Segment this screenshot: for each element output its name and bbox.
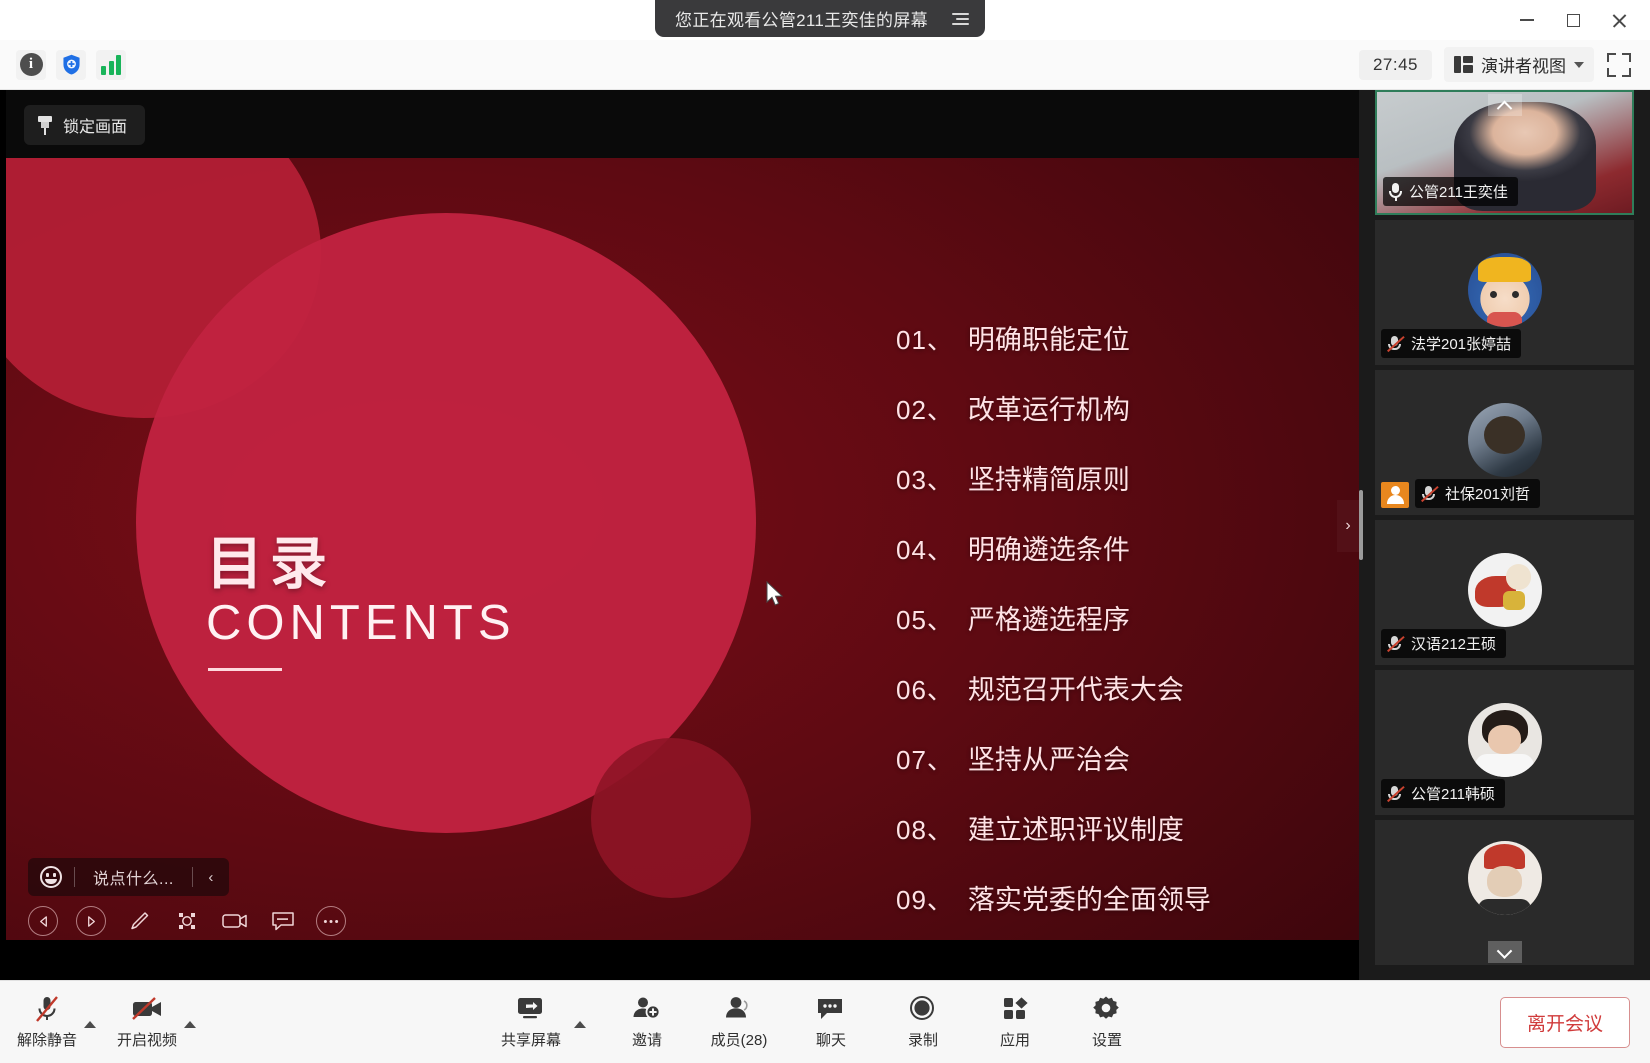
apps-grid-icon [998,995,1032,1025]
chat-placeholder[interactable]: 说点什么... [75,865,192,889]
unmute-button[interactable]: 解除静音 [16,995,78,1050]
close-icon[interactable] [1596,0,1642,40]
record-circle-icon [906,995,940,1025]
shield-icon[interactable] [56,50,86,80]
item-text: 改革运行机构 [968,388,1130,427]
decor-circle-3 [591,738,751,898]
participant-name-bar: 社保201刘哲 [1415,479,1540,508]
pin-icon [38,116,52,135]
record-label: 录制 [908,1029,938,1050]
spotlight-button[interactable] [172,906,202,936]
settings-button[interactable]: 设置 [1076,995,1138,1050]
mic-muted-icon [1421,485,1438,503]
slide-title: 目录 [206,518,334,600]
start-video-label: 开启视频 [117,1029,177,1050]
annotate-pen-button[interactable] [124,906,154,936]
speaker-view-icon [1454,56,1473,73]
avatar [1468,553,1542,627]
item-number: 08、 [896,810,954,847]
item-text: 规范召开代表大会 [968,668,1184,707]
status-bar-left: i [0,50,126,80]
chat-label: 聊天 [816,1029,846,1050]
item-number: 05、 [896,600,954,637]
chat-bubble-icon [814,995,848,1025]
unmute-label: 解除静音 [17,1029,77,1050]
avatar [1468,703,1542,777]
view-mode-selector[interactable]: 演讲者视图 [1444,47,1594,82]
participant-name: 法学201张婷喆 [1411,333,1511,354]
record-button[interactable]: 录制 [892,995,954,1050]
share-screen-label: 共享屏幕 [501,1029,561,1050]
participant-name: 汉语212王硕 [1411,633,1496,654]
people-icon [722,995,756,1025]
share-options-chevron-up-icon[interactable] [574,1021,586,1028]
participant-name: 社保201刘哲 [1445,483,1530,504]
avatar [1468,403,1542,477]
start-video-button[interactable]: 开启视频 [116,995,178,1050]
mic-off-icon [30,995,64,1025]
participant-name-bar: 公管211王奕佳 [1383,177,1518,206]
mic-options-chevron-up-icon[interactable] [84,1021,96,1028]
meeting-toolbar: 解除静音 开启视频 [0,980,1650,1063]
settings-label: 设置 [1092,1029,1122,1050]
item-text: 建立述职评议制度 [968,808,1184,847]
emoji-icon[interactable] [28,866,74,888]
filmstrip-expand-handle[interactable]: › [1337,500,1359,552]
slide-contents-list: 01、 明确职能定位 02、 改革运行机构 03、 坚持精简原则 04、 明确遴… [896,318,1326,940]
prev-slide-button[interactable] [28,906,58,936]
item-number: 01、 [896,320,954,357]
share-screen-button[interactable]: 共享屏幕 [500,995,562,1050]
participant-name-bar: 公管211韩硕 [1381,779,1505,808]
chevron-right-icon: › [1345,517,1350,535]
item-number: 03、 [896,460,954,497]
chevron-down-icon [1574,62,1584,68]
list-item: 04、 明确遴选条件 [896,528,1326,567]
participant-tile[interactable]: 公管211王奕佳 [1375,90,1634,215]
list-item: 05、 严格遴选程序 [896,598,1326,637]
participant-name-bar: 法学201张婷喆 [1381,329,1521,358]
participant-name-bar: 汉语212王硕 [1381,629,1506,658]
toolbar-left-group: 解除静音 开启视频 [0,995,196,1050]
toolbar-center-group: 共享屏幕 邀请 [500,995,1138,1050]
person-add-icon [630,995,664,1025]
invite-button[interactable]: 邀请 [616,995,678,1050]
lock-screen-label: 锁定画面 [63,113,127,137]
members-button[interactable]: 成员(28) [708,995,770,1050]
item-text: 严格遴选程序 [968,598,1130,637]
quick-chat-input[interactable]: 说点什么... ‹ [28,858,229,896]
participant-tile[interactable] [1375,820,1634,965]
camera-icon[interactable] [220,906,250,936]
window-controls [1504,0,1642,40]
avatar [1468,841,1542,915]
participant-name: 公管211韩硕 [1411,783,1495,804]
hamburger-icon[interactable] [942,13,969,25]
slide-underline [208,668,282,671]
view-mode-label: 演讲者视图 [1481,52,1566,77]
participant-tile[interactable]: 汉语212王硕 [1375,520,1634,665]
invite-label: 邀请 [632,1029,662,1050]
list-item: 01、 明确职能定位 [896,318,1326,357]
participant-tile[interactable]: 公管211韩硕 [1375,670,1634,815]
annotation-toolbar [28,906,346,936]
avatar [1468,253,1542,327]
list-item: 03、 坚持精简原则 [896,458,1326,497]
maximize-icon[interactable] [1550,0,1596,40]
item-number: 09、 [896,880,954,917]
participant-filmstrip: 公管211王奕佳 法学201张婷喆 [1359,90,1650,980]
mic-muted-icon [1387,635,1404,653]
chevron-left-icon[interactable]: ‹ [193,869,229,886]
meeting-window: 您正在观看公管211王奕佳的屏幕 i [0,0,1650,1063]
item-text: 落实党委的全面领导 [968,878,1211,917]
item-number: 02、 [896,390,954,427]
more-button[interactable] [316,906,346,936]
chat-button[interactable]: 聊天 [800,995,862,1050]
list-item: 07、 坚持从严治会 [896,738,1326,777]
fullscreen-icon[interactable] [1606,52,1632,78]
participant-tile[interactable]: 社保201刘哲 [1375,370,1634,515]
item-text: 明确职能定位 [968,318,1130,357]
apps-button[interactable]: 应用 [984,995,1046,1050]
apps-label: 应用 [1000,1029,1030,1050]
info-icon[interactable]: i [16,50,46,80]
scroll-up-button[interactable] [1488,94,1522,116]
members-label: 成员(28) [711,1029,768,1050]
gear-icon [1090,995,1124,1025]
meeting-stage: 锁定画面 目录 CONTENTS 01、 明确职能定位 02、 改革 [0,90,1650,980]
slide-subtitle: CONTENTS [206,595,516,651]
item-text: 明确遴选条件 [968,528,1130,567]
leave-meeting-button[interactable]: 离开会议 [1500,997,1630,1048]
video-options-chevron-up-icon[interactable] [184,1021,196,1028]
mic-muted-icon [1387,785,1404,803]
list-item: 02、 改革运行机构 [896,388,1326,427]
status-bar-right: 27:45 演讲者视图 [1359,47,1650,82]
camera-off-icon [130,995,164,1025]
item-text: 坚持精简原则 [968,458,1130,497]
signal-bars-icon[interactable] [96,50,126,80]
comment-icon[interactable] [268,906,298,936]
next-slide-button[interactable] [76,906,106,936]
shared-screen-area[interactable]: 锁定画面 目录 CONTENTS 01、 明确职能定位 02、 改革 [6,90,1359,940]
list-item: 06、 规范召开代表大会 [896,668,1326,707]
host-badge [1381,482,1409,508]
presentation-slide: 目录 CONTENTS 01、 明确职能定位 02、 改革运行机构 03、 坚持… [6,158,1359,940]
item-text: 坚持从严治会 [968,738,1130,777]
scroll-down-button[interactable] [1488,941,1522,963]
mic-muted-icon [1387,335,1404,353]
minimize-icon[interactable] [1504,0,1550,40]
meeting-timer: 27:45 [1359,50,1432,80]
title-bar: 您正在观看公管211王奕佳的屏幕 [0,0,1650,40]
list-item: 08、 建立述职评议制度 [896,808,1326,847]
mic-unmuted-icon [1389,183,1402,201]
list-item: 09、 落实党委的全面领导 [896,878,1326,917]
item-number: 04、 [896,530,954,567]
status-bar: i 27:45 演讲者视图 [0,40,1650,90]
item-number: 07、 [896,740,954,777]
filmstrip-scrollbar[interactable] [1359,490,1363,560]
participant-tile[interactable]: 法学201张婷喆 [1375,220,1634,365]
screen-share-notice[interactable]: 您正在观看公管211王奕佳的屏幕 [655,0,985,37]
participant-name: 公管211王奕佳 [1409,181,1508,202]
lock-screen-button[interactable]: 锁定画面 [24,105,145,145]
share-notice-text: 您正在观看公管211王奕佳的屏幕 [675,6,928,31]
item-number: 06、 [896,670,954,707]
share-screen-icon [514,995,548,1025]
